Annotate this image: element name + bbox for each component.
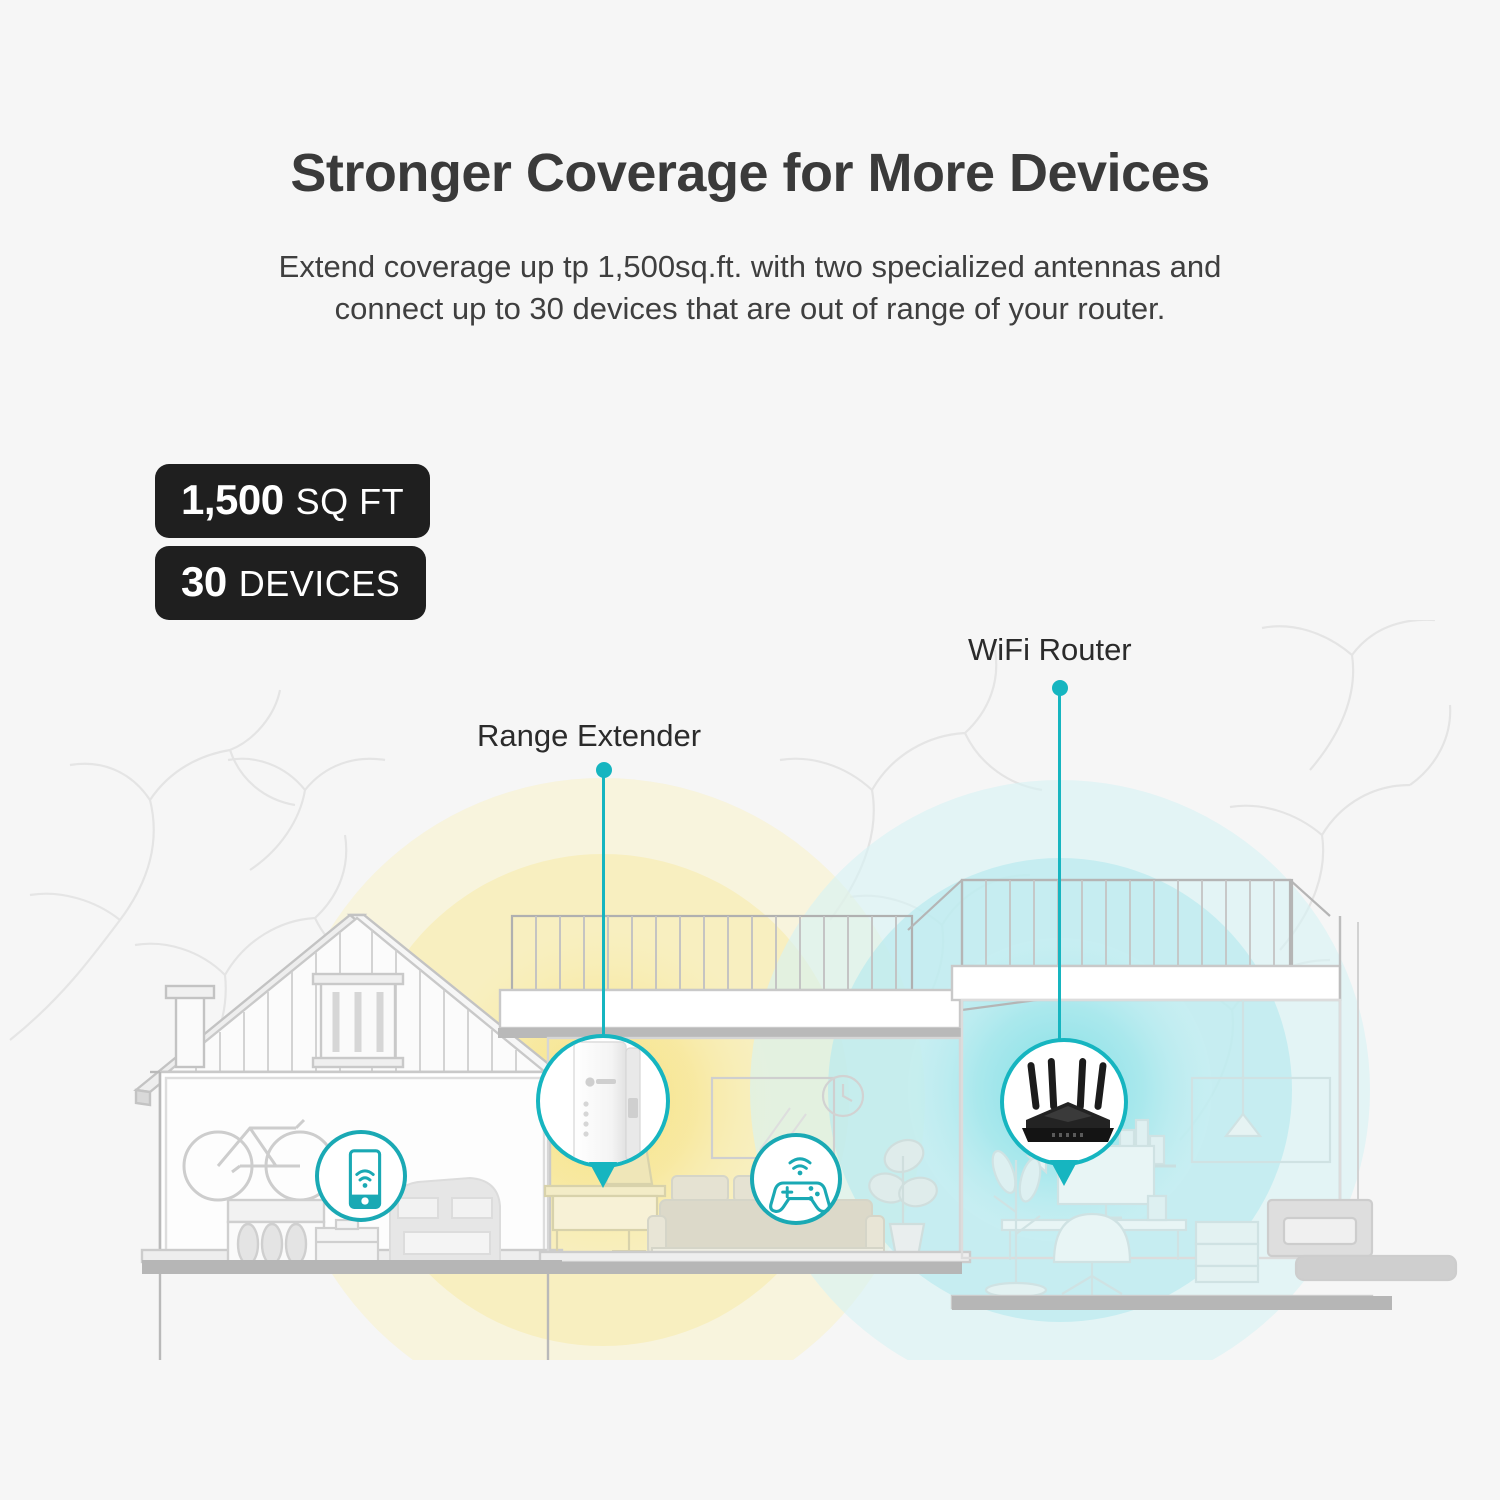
coverage-area-number: 1,500	[181, 476, 284, 524]
device-count-number: 30	[181, 558, 227, 606]
callout-wifi-router-line	[1058, 690, 1061, 1042]
infographic-stage: 1,500 SQ FT 30 DEVICES Stronger Coverage…	[0, 0, 1500, 1500]
gamepad-wifi-icon	[758, 1141, 842, 1225]
wifi-router-pin[interactable]	[1000, 1038, 1128, 1166]
callout-range-extender-label: Range Extender	[477, 718, 701, 754]
gamepad-wifi-icon-badge[interactable]	[750, 1133, 842, 1225]
callout-range-extender-line	[602, 772, 605, 1050]
house-cutaway-illustration	[0, 600, 1500, 1360]
wall-plug-extender-icon	[540, 1038, 670, 1168]
wifi-router-pin-circle	[1000, 1038, 1128, 1166]
callout-wifi-router-label: WiFi Router	[968, 632, 1132, 668]
router-icon	[1004, 1042, 1128, 1166]
subtitle-line-2: connect up to 30 devices that are out of…	[150, 288, 1350, 330]
stat-badges: 1,500 SQ FT 30 DEVICES	[155, 464, 430, 628]
device-count-unit: DEVICES	[239, 563, 401, 605]
smartphone-wifi-icon-circle	[315, 1130, 407, 1222]
device-count-badge: 30 DEVICES	[155, 546, 426, 620]
range-extender-pin[interactable]	[536, 1034, 670, 1168]
range-extender-pin-tail	[589, 1162, 617, 1188]
subtitle-line-1: Extend coverage up tp 1,500sq.ft. with t…	[150, 246, 1350, 288]
range-extender-pin-circle	[536, 1034, 670, 1168]
smartphone-wifi-icon-badge[interactable]	[315, 1130, 407, 1222]
wifi-router-pin-tail	[1050, 1160, 1078, 1186]
coverage-area-unit: SQ FT	[296, 481, 405, 523]
coverage-area-badge: 1,500 SQ FT	[155, 464, 430, 538]
gamepad-wifi-icon-circle	[750, 1133, 842, 1225]
page-title: Stronger Coverage for More Devices	[0, 142, 1500, 204]
page-subtitle: Extend coverage up tp 1,500sq.ft. with t…	[150, 246, 1350, 330]
smartphone-wifi-icon	[323, 1138, 407, 1222]
